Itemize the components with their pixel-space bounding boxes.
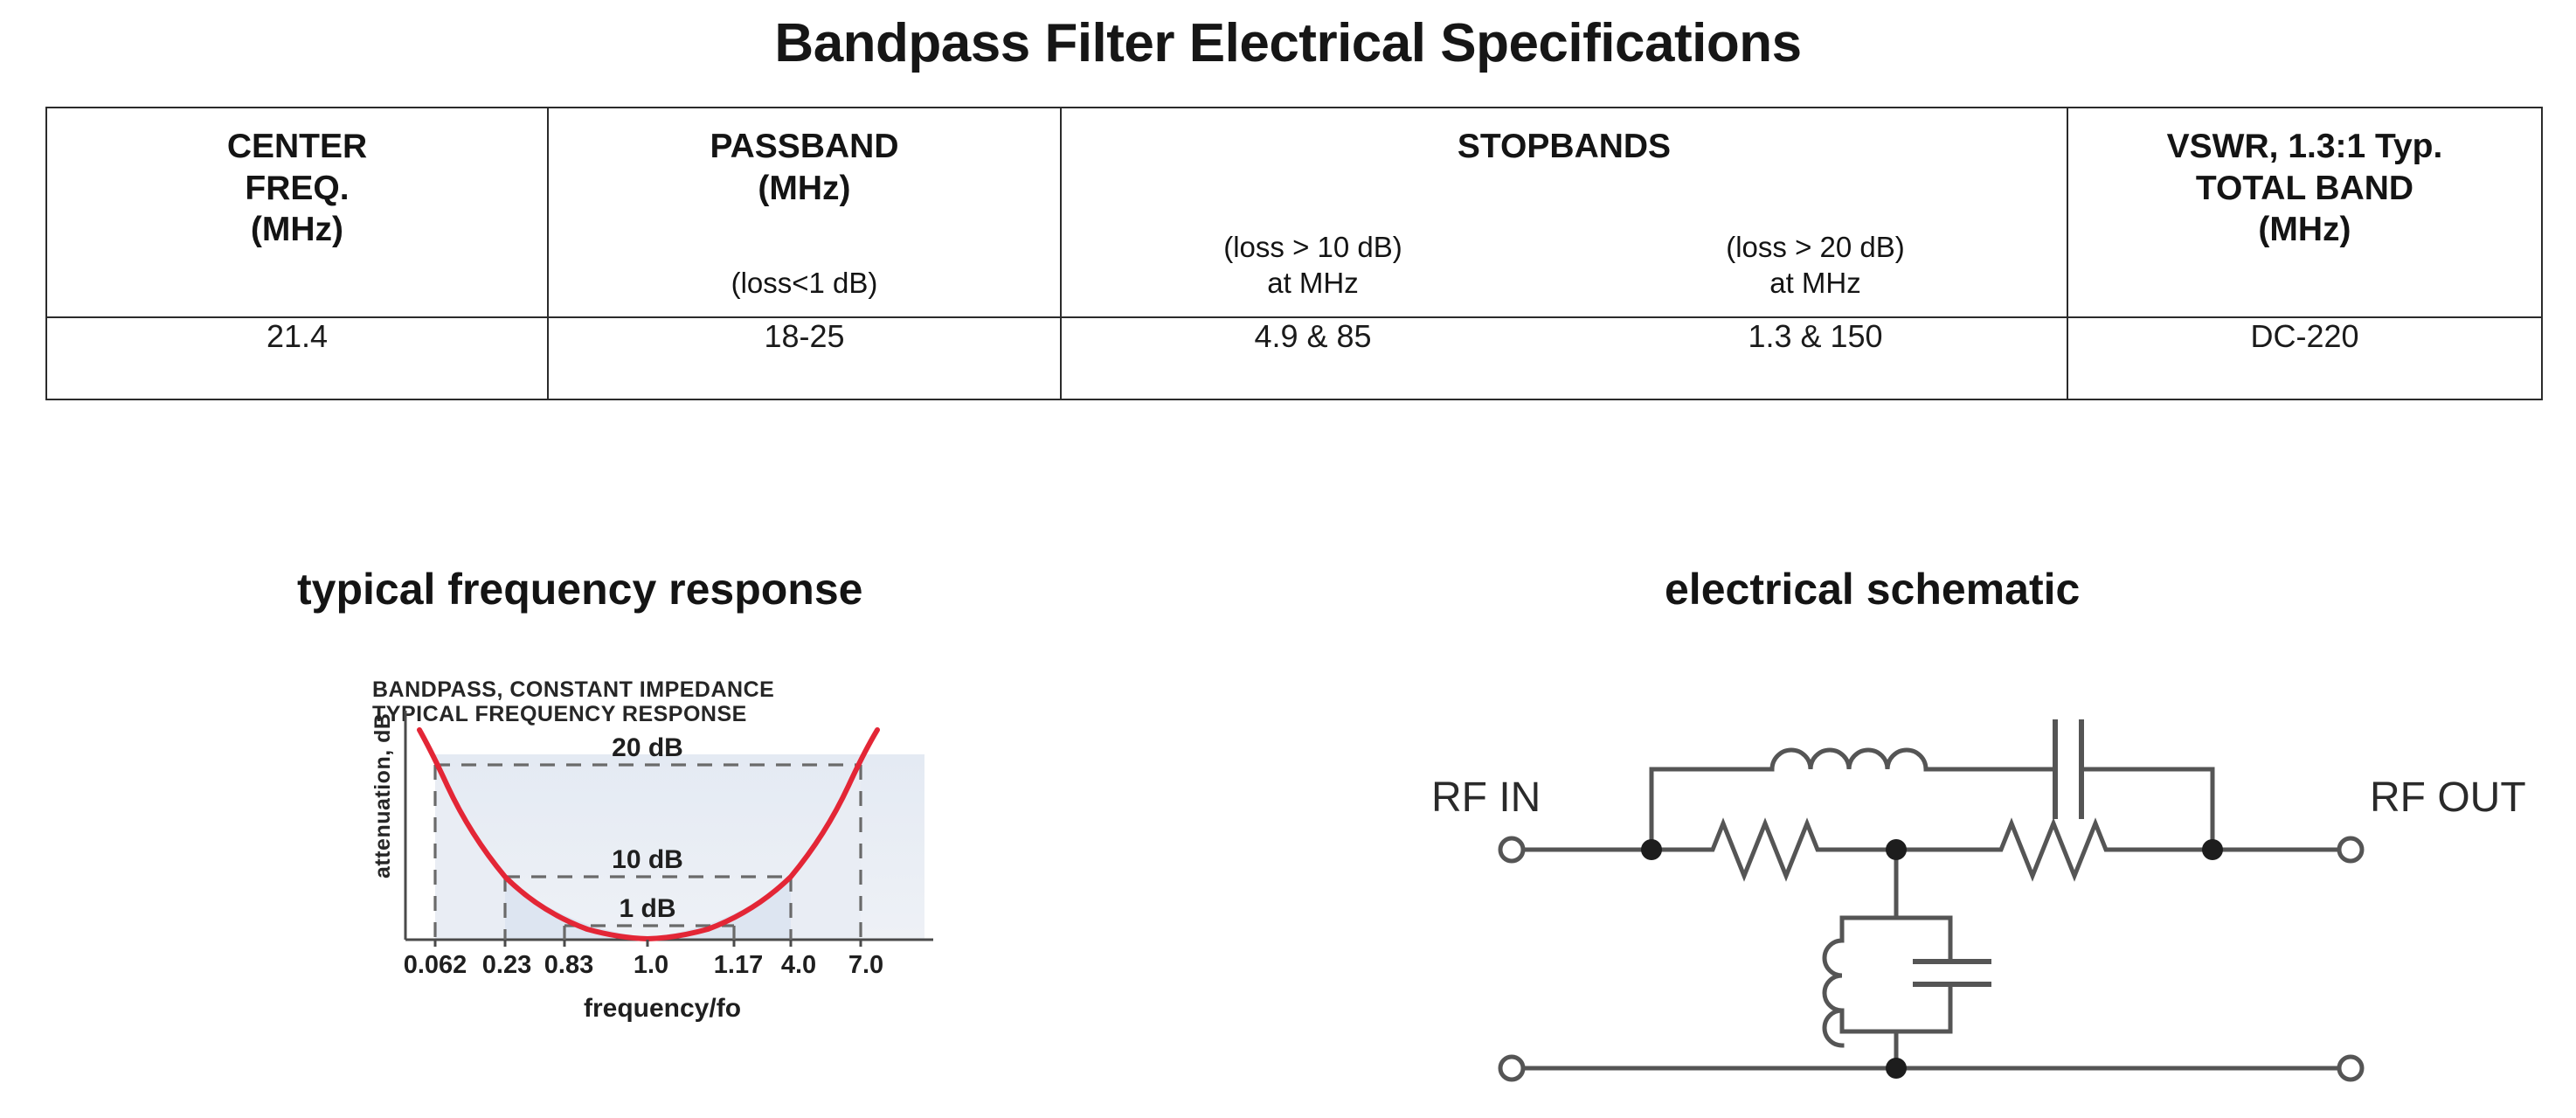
header-center-line-2: FREQ.: [47, 168, 547, 210]
electrical-schematic-diagram: RF IN RF OUT: [1424, 664, 2552, 1101]
junction-node-left: [1641, 839, 1662, 860]
header-vswr-text: VSWR, 1.3:1 Typ. TOTAL BAND (MHz): [2068, 126, 2541, 251]
header-stop20-line-2: at MHz: [1564, 265, 2067, 301]
header-stopbands-line-1: STOPBANDS: [1062, 126, 2067, 168]
header-cell-passband: PASSBAND (MHz) (loss<1 dB): [548, 108, 1061, 317]
page-title: Bandpass Filter Electrical Specification…: [0, 12, 2576, 74]
series-inductor-icon: [1772, 750, 1926, 769]
spec-table: CENTER FREQ. (MHz) PASSBAND (MHz) (loss<…: [45, 107, 2543, 400]
value-vswr: DC-220: [2067, 317, 2542, 399]
frequency-response-chart: BANDPASS, CONSTANT IMPEDANCE TYPICAL FRE…: [357, 677, 968, 1097]
chart-y-axis-label: attenuation, dB: [370, 713, 395, 878]
terminal-rf-out-signal: [2339, 838, 2362, 861]
resistor-left-icon: [1652, 823, 1896, 876]
header-stopband-10db: (loss > 10 dB) at MHz: [1062, 229, 1564, 302]
junction-node-center: [1886, 839, 1907, 860]
table-header-row: CENTER FREQ. (MHz) PASSBAND (MHz) (loss<…: [46, 108, 2542, 317]
header-vswr-line-2: TOTAL BAND: [2068, 168, 2541, 210]
header-stop10-line-2: at MHz: [1062, 265, 1564, 301]
electrical-schematic-heading: electrical schematic: [1665, 564, 2080, 615]
chart-x-tick-3: 1.0: [634, 951, 668, 979]
junction-node-right: [2202, 839, 2223, 860]
value-stopband-20db: 1.3 & 150: [1564, 318, 2067, 355]
header-vswr-line-3: (MHz): [2068, 209, 2541, 251]
value-stopband-10db: 4.9 & 85: [1062, 318, 1564, 355]
chart-x-tick-4: 1.17: [714, 951, 763, 979]
header-center-freq-text: CENTER FREQ. (MHz): [47, 126, 547, 251]
chart-annotation-10db: 10 dB: [612, 845, 683, 874]
frequency-response-heading: typical frequency response: [297, 564, 862, 615]
header-cell-vswr: VSWR, 1.3:1 Typ. TOTAL BAND (MHz): [2067, 108, 2542, 317]
chart-title-line-2: TYPICAL FREQUENCY RESPONSE: [372, 702, 747, 726]
junction-node-ground: [1886, 1058, 1907, 1079]
chart-x-tick-6: 7.0: [848, 951, 883, 979]
header-passband-text: PASSBAND (MHz): [549, 126, 1060, 209]
value-center-freq: 21.4: [46, 317, 548, 399]
shunt-inductor-icon: [1825, 941, 1842, 1045]
chart-x-tick-labels: 0.062 0.23 0.83 1.0 1.17 4.0 7.0: [404, 951, 883, 979]
header-cell-center-freq: CENTER FREQ. (MHz): [46, 108, 548, 317]
chart-title-line-1: BANDPASS, CONSTANT IMPEDANCE: [372, 677, 774, 702]
header-passband-subtext: (loss<1 dB): [549, 265, 1060, 301]
value-passband: 18-25: [548, 317, 1061, 399]
chart-x-axis-label: frequency/fo: [584, 994, 741, 1023]
header-vswr-line-1: VSWR, 1.3:1 Typ.: [2068, 126, 2541, 168]
value-stopbands-subcolumns: 4.9 & 85 1.3 & 150: [1062, 318, 2067, 355]
header-stop10-line-1: (loss > 10 dB): [1062, 229, 1564, 265]
chart-x-tick-0: 0.062: [404, 951, 467, 979]
chart-x-tick-1: 0.23: [482, 951, 531, 979]
header-cell-stopbands: STOPBANDS (loss > 10 dB) at MHz (loss > …: [1061, 108, 2067, 317]
table-row: 21.4 18-25 4.9 & 85 1.3 & 150 DC-220: [46, 317, 2542, 399]
schematic-rf-in-label: RF IN: [1431, 774, 1541, 821]
header-center-line-1: CENTER: [47, 126, 547, 168]
header-center-line-3: (MHz): [47, 209, 547, 251]
header-stop20-line-1: (loss > 20 dB): [1564, 229, 2067, 265]
header-stopbands-subcolumns: (loss > 10 dB) at MHz (loss > 20 dB) at …: [1062, 229, 2067, 302]
chart-annotation-1db: 1 dB: [619, 894, 675, 923]
chart-annotation-20db: 20 dB: [612, 733, 683, 762]
chart-x-tick-2: 0.83: [544, 951, 593, 979]
terminal-rf-in-ground: [1500, 1057, 1523, 1080]
schematic-rf-out-label: RF OUT: [2370, 774, 2526, 821]
resistor-right-icon: [1896, 823, 2212, 876]
terminal-rf-in-signal: [1500, 838, 1523, 861]
chart-x-tick-5: 4.0: [781, 951, 816, 979]
value-stopbands: 4.9 & 85 1.3 & 150: [1061, 317, 2067, 399]
terminal-rf-out-ground: [2339, 1057, 2362, 1080]
header-passband-line-2: (MHz): [549, 168, 1060, 210]
header-stopbands-text: STOPBANDS: [1062, 126, 2067, 168]
header-passband-line-1: PASSBAND: [549, 126, 1060, 168]
header-stopband-20db: (loss > 20 dB) at MHz: [1564, 229, 2067, 302]
